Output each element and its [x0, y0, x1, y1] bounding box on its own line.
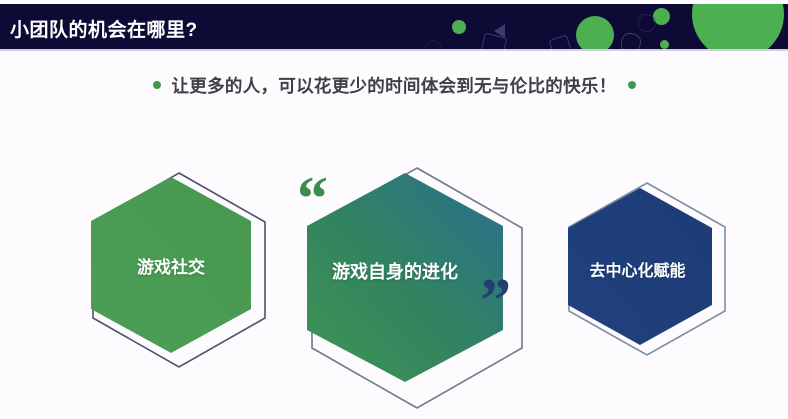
hexagon-3-label: 去中心化赋能 [545, 257, 730, 281]
hexagon-card-1[interactable]: 游戏社交 [83, 165, 283, 370]
presentation-slide: 小团队的机会在哪里? 让更多的人，可以花更少的时间体会到无与伦比的快乐！ [0, 0, 788, 419]
hexagon-card-2[interactable]: 游戏自身的进化 “ ” [295, 160, 535, 405]
quote-close-icon: ” [480, 270, 511, 332]
hexagon-group: 游戏社交 游戏自身的进化 “ ” [0, 0, 788, 419]
page-title: 小团队的机会在哪里? [10, 15, 198, 42]
hexagon-2-label: 游戏自身的进化 [275, 258, 515, 284]
hexagon-card-3[interactable]: 去中心化赋能 [557, 178, 742, 358]
hexagon-1-label: 游戏社交 [71, 253, 271, 278]
quote-open-icon: “ [297, 168, 328, 230]
